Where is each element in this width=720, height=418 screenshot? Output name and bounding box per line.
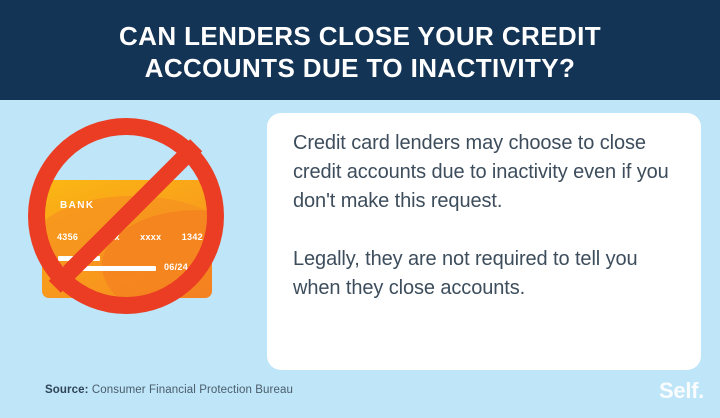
panel-paragraph-1: Credit card lenders may choose to close …: [293, 129, 679, 216]
source-attribution: Source: Consumer Financial Protection Bu…: [45, 384, 293, 396]
brand-logo: Self.: [659, 378, 704, 404]
prohibition-sign-icon: [28, 118, 224, 314]
page-title-line-1: CAN LENDERS CLOSE YOUR CREDIT: [119, 20, 601, 52]
infographic-canvas: CAN LENDERS CLOSE YOUR CREDIT ACCOUNTS D…: [0, 0, 720, 418]
source-label: Source:: [45, 384, 89, 396]
source-value: Consumer Financial Protection Bureau: [92, 384, 293, 396]
prohibited-credit-card-illustration: BANK 4356 xxxx xxxx 1342 06/24: [20, 118, 250, 330]
body-area: BANK 4356 xxxx xxxx 1342 06/24 Credit ca…: [0, 100, 720, 418]
header-band: CAN LENDERS CLOSE YOUR CREDIT ACCOUNTS D…: [0, 0, 720, 100]
panel-paragraph-2: Legally, they are not required to tell y…: [293, 245, 679, 303]
page-title-line-2: ACCOUNTS DUE TO INACTIVITY?: [145, 52, 576, 84]
content-panel: Credit card lenders may choose to close …: [267, 113, 701, 370]
